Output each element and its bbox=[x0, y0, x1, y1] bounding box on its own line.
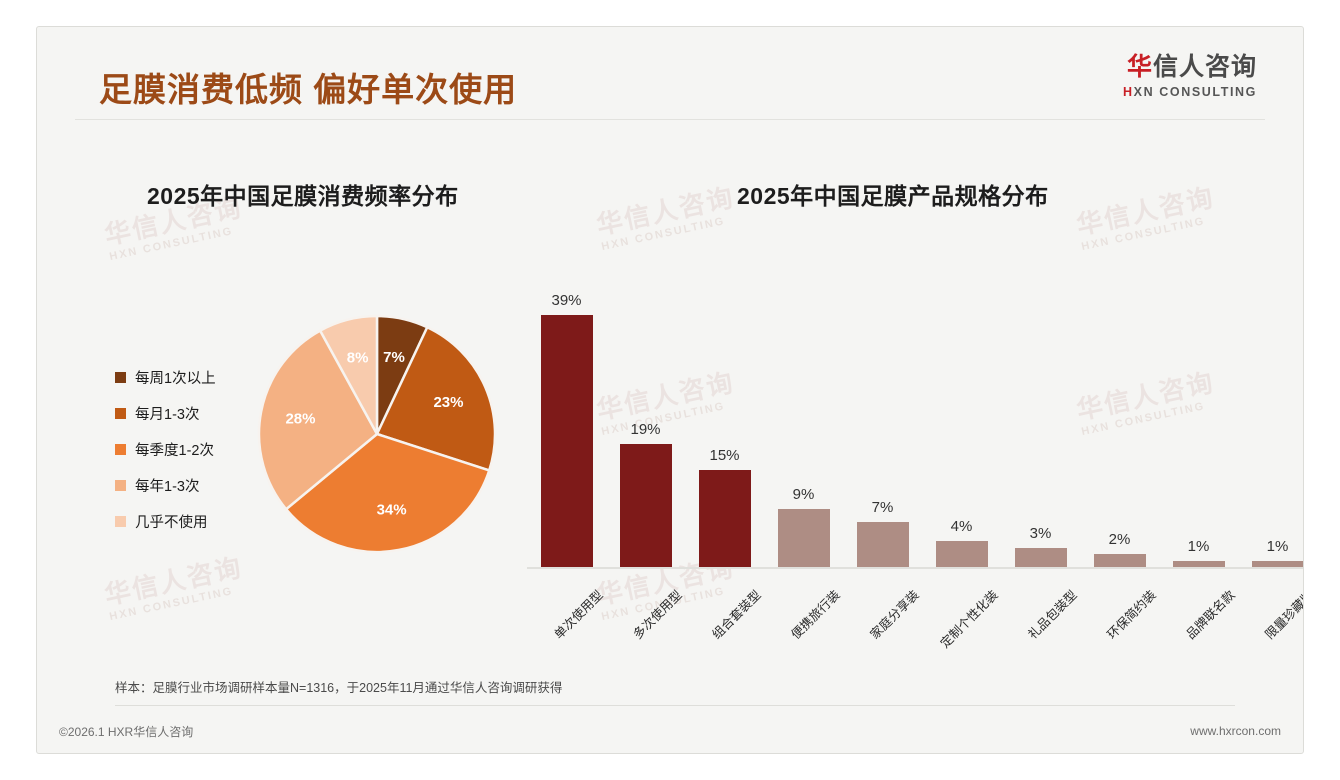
bar-value-label: 2% bbox=[1094, 531, 1146, 548]
bar-rect[interactable] bbox=[541, 315, 593, 567]
bar-x-axis-label: 限量珍藏版 bbox=[1238, 585, 1304, 663]
watermark-cn: 华信人咨询 bbox=[1074, 183, 1217, 241]
watermark-en: HXN CONSULTING bbox=[1080, 212, 1220, 253]
page-title: 足膜消费低频 偏好单次使用 bbox=[99, 63, 517, 111]
legend-swatch-icon bbox=[115, 372, 126, 383]
bar-column[interactable]: 4% bbox=[936, 287, 988, 567]
bar-rect[interactable] bbox=[699, 470, 751, 567]
bar-value-label: 15% bbox=[699, 447, 751, 464]
legend-swatch-icon bbox=[115, 516, 126, 527]
bar-column[interactable]: 39% bbox=[541, 287, 593, 567]
pie-slice-value: 28% bbox=[285, 410, 315, 427]
pie-legend-label: 每周1次以上 bbox=[135, 367, 216, 388]
pie-legend-label: 每季度1-2次 bbox=[135, 439, 214, 460]
bar-x-axis-label: 家庭分享装 bbox=[843, 585, 921, 663]
left-chart-title: 2025年中国足膜消费频率分布 bbox=[147, 177, 459, 211]
footer-url: www.hxrcon.com bbox=[1190, 724, 1281, 738]
slide-frame: 华信人咨询 HXN CONSULTING 华信人咨询 HXN CONSULTIN… bbox=[36, 26, 1304, 754]
brand-logo-cn-first: 华 bbox=[1127, 53, 1153, 81]
bar-rect[interactable] bbox=[936, 541, 988, 567]
bar-x-axis-label: 多次使用型 bbox=[606, 585, 684, 663]
slide-footer: ©2026.1 HXR华信人咨询 www.hxrcon.com bbox=[37, 709, 1303, 753]
bar-value-label: 4% bbox=[936, 518, 988, 535]
watermark: 华信人咨询 HXN CONSULTING bbox=[1074, 183, 1220, 254]
bar-x-axis-label: 品牌联名款 bbox=[1159, 585, 1237, 663]
watermark-en: HXN CONSULTING bbox=[600, 212, 740, 253]
bar-column[interactable]: 3% bbox=[1015, 287, 1067, 567]
bar-chart-axis bbox=[527, 567, 1304, 569]
brand-logo-en-first: H bbox=[1123, 85, 1134, 99]
pie-legend-label: 每月1-3次 bbox=[135, 403, 199, 424]
brand-logo-en-rest: XN CONSULTING bbox=[1134, 85, 1257, 99]
bar-rect[interactable] bbox=[857, 522, 909, 567]
brand-logo-cn-rest: 信人咨询 bbox=[1153, 53, 1257, 81]
watermark-en: HXN CONSULTING bbox=[108, 222, 248, 263]
pie-slice-value: 7% bbox=[383, 349, 405, 366]
bar-rect[interactable] bbox=[620, 444, 672, 567]
brand-logo-cn: 华信人咨询 bbox=[1123, 55, 1257, 80]
legend-swatch-icon bbox=[115, 408, 126, 419]
slide: 华信人咨询 HXN CONSULTING 华信人咨询 HXN CONSULTIN… bbox=[0, 0, 1340, 780]
bar-value-label: 1% bbox=[1252, 538, 1304, 555]
pie-chart-svg: 7%23%34%28%8% bbox=[247, 299, 507, 569]
bar-x-axis-label: 定制个性化装 bbox=[922, 585, 1000, 663]
bar-value-label: 39% bbox=[541, 292, 593, 309]
legend-swatch-icon bbox=[115, 480, 126, 491]
brand-logo: 华信人咨询 HXN CONSULTING bbox=[1123, 55, 1257, 99]
bar-x-axis-label: 便携旅行装 bbox=[764, 585, 842, 663]
bar-column[interactable]: 9% bbox=[778, 287, 830, 567]
bar-column[interactable]: 19% bbox=[620, 287, 672, 567]
pie-slice-value: 8% bbox=[347, 350, 369, 367]
bar-column[interactable]: 7% bbox=[857, 287, 909, 567]
bar-rect[interactable] bbox=[1015, 548, 1067, 567]
bar-value-label: 19% bbox=[620, 421, 672, 438]
bar-x-axis-label: 单次使用型 bbox=[527, 585, 605, 663]
pie-chart-panel: 每周1次以上每月1-3次每季度1-2次每年1-3次几乎不使用 7%23%34%2… bbox=[77, 277, 527, 617]
bar-chart-panel: 39%单次使用型19%多次使用型15%组合套装型9%便携旅行装7%家庭分享装4%… bbox=[507, 277, 1304, 637]
header-divider bbox=[75, 119, 1265, 120]
source-note: 样本：足膜行业市场调研样本量N=1316，于2025年11月通过华信人咨询调研获… bbox=[115, 677, 1235, 706]
watermark: 华信人咨询 HXN CONSULTING bbox=[594, 183, 740, 254]
bar-rect[interactable] bbox=[778, 509, 830, 567]
bar-value-label: 3% bbox=[1015, 525, 1067, 542]
pie-slice-value: 23% bbox=[433, 394, 463, 411]
bar-column[interactable]: 2% bbox=[1094, 287, 1146, 567]
bar-value-label: 1% bbox=[1173, 538, 1225, 555]
bar-x-axis-label: 组合套装型 bbox=[685, 585, 763, 663]
brand-logo-en: HXN CONSULTING bbox=[1123, 86, 1257, 99]
watermark-cn: 华信人咨询 bbox=[594, 183, 737, 241]
bar-value-label: 9% bbox=[778, 486, 830, 503]
pie-slice-value: 34% bbox=[377, 501, 407, 518]
slide-header: 足膜消费低频 偏好单次使用 华信人咨询 HXN CONSULTING bbox=[37, 27, 1303, 119]
legend-swatch-icon bbox=[115, 444, 126, 455]
pie-legend-label: 每年1-3次 bbox=[135, 475, 199, 496]
bar-x-axis-label: 环保简约装 bbox=[1080, 585, 1158, 663]
bar-chart-plot: 39%单次使用型19%多次使用型15%组合套装型9%便携旅行装7%家庭分享装4%… bbox=[527, 287, 1304, 567]
bar-x-axis-label: 礼品包装型 bbox=[1001, 585, 1079, 663]
footer-copyright: ©2026.1 HXR华信人咨询 bbox=[59, 723, 193, 740]
bar-column[interactable]: 1% bbox=[1173, 287, 1225, 567]
pie-legend-label: 几乎不使用 bbox=[135, 511, 208, 532]
bar-column[interactable]: 1% bbox=[1252, 287, 1304, 567]
bar-column[interactable]: 15% bbox=[699, 287, 751, 567]
bar-rect[interactable] bbox=[1094, 554, 1146, 567]
right-chart-title: 2025年中国足膜产品规格分布 bbox=[737, 177, 1049, 211]
bar-value-label: 7% bbox=[857, 499, 909, 516]
